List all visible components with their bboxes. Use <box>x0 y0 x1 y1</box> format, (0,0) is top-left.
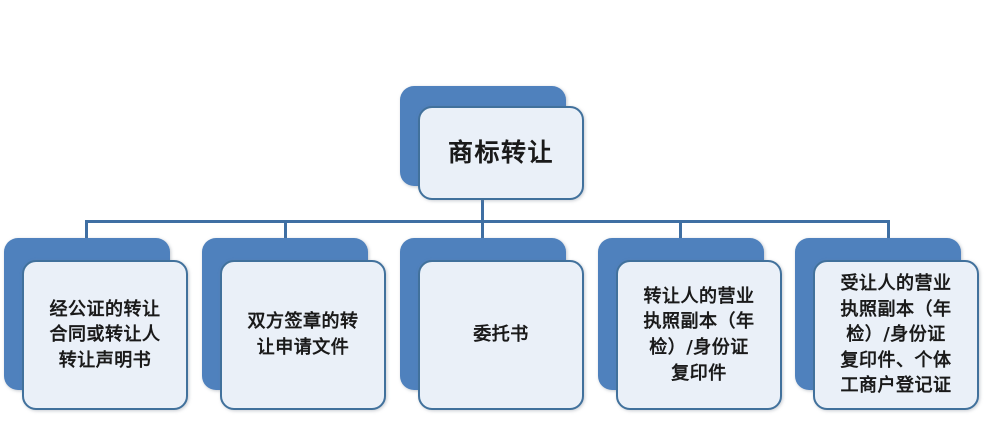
node-child-2-label: 双方签章的转 让申请文件 <box>244 309 363 360</box>
node-child-2[interactable]: 双方签章的转 让申请文件 <box>202 238 368 390</box>
connector-branch-1 <box>85 220 88 240</box>
node-child-3[interactable]: 委托书 <box>400 238 566 390</box>
node-child-1-front-card: 经公证的转让 合同或转让人 转让声明书 <box>22 260 188 410</box>
node-child-5[interactable]: 受让人的营业 执照副本（年 检）/身份证 复印件、个体 工商户登记证 <box>795 238 961 390</box>
connector-branch-3 <box>481 220 484 240</box>
diagram-canvas: 商标转让 经公证的转让 合同或转让人 转让声明书 双方签章的转 让申请文件 委托… <box>0 0 994 424</box>
node-child-4[interactable]: 转让人的营业 执照副本（年 检）/身份证 复印件 <box>598 238 764 390</box>
node-child-5-label: 受让人的营业 执照副本（年 检）/身份证 复印件、个体 工商户登记证 <box>837 271 956 399</box>
node-child-1-label: 经公证的转让 合同或转让人 转让声明书 <box>46 297 165 374</box>
node-child-3-front-card: 委托书 <box>418 260 584 410</box>
node-child-3-label: 委托书 <box>469 322 533 348</box>
node-child-4-label: 转让人的营业 执照副本（年 检）/身份证 复印件 <box>640 284 759 386</box>
connector-root-stem <box>481 198 484 222</box>
node-root-label: 商标转让 <box>444 135 558 171</box>
node-child-2-front-card: 双方签章的转 让申请文件 <box>220 260 386 410</box>
connector-branch-4 <box>679 220 682 240</box>
connector-horizontal-bus <box>85 220 890 223</box>
connector-branch-2 <box>284 220 287 240</box>
node-root-front-card: 商标转让 <box>418 106 584 200</box>
node-child-1[interactable]: 经公证的转让 合同或转让人 转让声明书 <box>4 238 170 390</box>
node-child-5-front-card: 受让人的营业 执照副本（年 检）/身份证 复印件、个体 工商户登记证 <box>813 260 979 410</box>
node-root[interactable]: 商标转让 <box>400 86 566 186</box>
connector-branch-5 <box>887 220 890 240</box>
node-child-4-front-card: 转让人的营业 执照副本（年 检）/身份证 复印件 <box>616 260 782 410</box>
